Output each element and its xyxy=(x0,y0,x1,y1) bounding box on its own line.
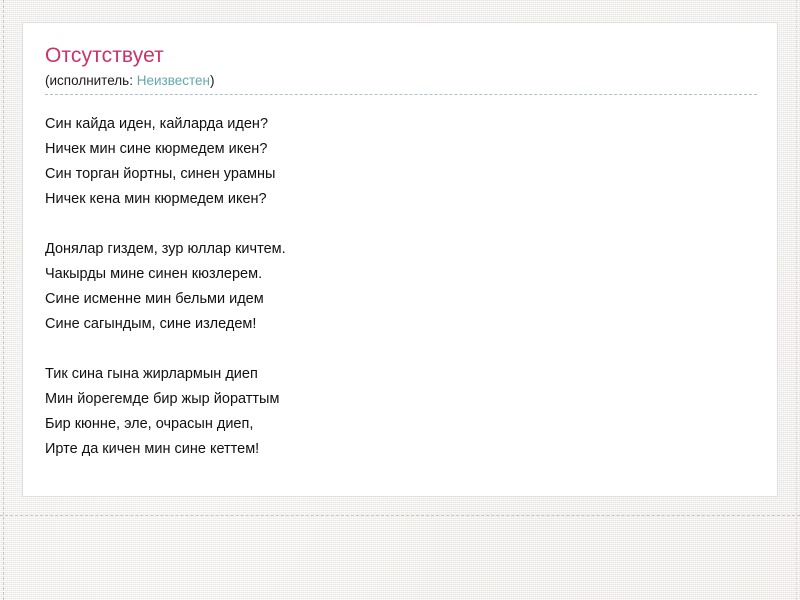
guide-line-horizontal-bottom xyxy=(0,515,800,516)
lyric-line: Ничек кена мин кюрмедем икен? xyxy=(45,187,755,212)
header-separator xyxy=(45,94,757,95)
artist-byline: (исполнитель: Неизвестен) xyxy=(45,72,755,89)
lyrics-body: Син кайда иден, кайларда иден?Ничек мин … xyxy=(45,112,755,462)
page-title: Отсутствует xyxy=(45,43,755,69)
lyric-stanza: Син кайда иден, кайларда иден?Ничек мин … xyxy=(45,112,755,212)
lyric-line: Ничек мин сине кюрмедем икен? xyxy=(45,137,755,162)
guide-line-vertical-left xyxy=(3,0,4,600)
lyric-line: Сине исменне мин бельми идем xyxy=(45,287,755,312)
lyric-line: Ирте да кичен мин сине кеттем! xyxy=(45,437,755,462)
lyric-stanza: Тик сина гына жирлармын диепМин йорегемд… xyxy=(45,362,755,462)
lyric-line: Сине сагындым, сине изледем! xyxy=(45,312,755,337)
lyric-stanza: Донялар гиздем, зур юллар кичтем.Чакырды… xyxy=(45,237,755,337)
artist-link[interactable]: Неизвестен xyxy=(137,73,210,88)
lyric-line: Бир кюнне, эле, очрасын диеп, xyxy=(45,412,755,437)
lyric-line: Син кайда иден, кайларда иден? xyxy=(45,112,755,137)
lyric-line: Донялар гиздем, зур юллар кичтем. xyxy=(45,237,755,262)
lyric-line: Чакырды мине синен кюзлерем. xyxy=(45,262,755,287)
lyric-line: Тик сина гына жирлармын диеп xyxy=(45,362,755,387)
lyric-line: Син торган йортны, синен урамны xyxy=(45,162,755,187)
lyric-line: Мин йорегемде бир жыр йораттым xyxy=(45,387,755,412)
guide-line-vertical-right xyxy=(796,0,797,600)
lyrics-card: Отсутствует (исполнитель: Неизвестен) Си… xyxy=(22,22,778,497)
card-content: Отсутствует (исполнитель: Неизвестен) Си… xyxy=(23,23,777,462)
byline-label: исполнитель: xyxy=(50,73,137,88)
byline-close-paren: ) xyxy=(210,73,215,88)
